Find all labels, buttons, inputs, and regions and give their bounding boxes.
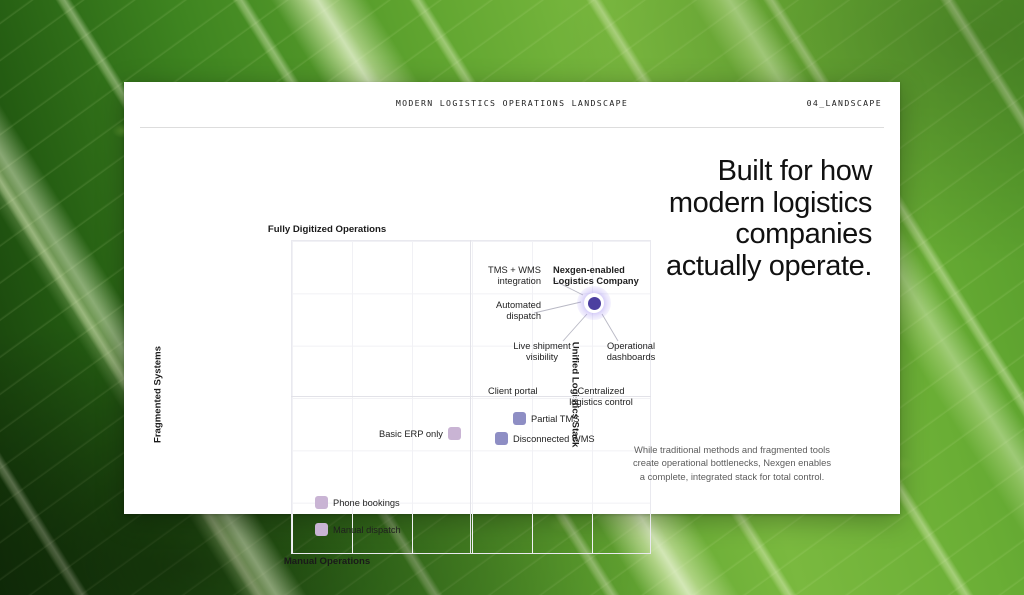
slide-card: MODERN LOGISTICS OPERATIONS LANDSCAPE 04… xyxy=(124,82,900,514)
axis-caption-top: Fully Digitized Operations xyxy=(268,224,386,235)
capability-label-tms-wms: TMS + WMS integration xyxy=(431,265,541,287)
body-paragraph: While traditional methods and fragmented… xyxy=(592,443,872,484)
data-point-label: Phone bookings xyxy=(333,498,400,508)
copy-column: Built for how modern logistics companies… xyxy=(592,130,872,514)
headline: Built for how modern logistics companies… xyxy=(592,156,872,282)
slide-header: MODERN LOGISTICS OPERATIONS LANDSCAPE 04… xyxy=(140,82,884,128)
swatch-icon xyxy=(513,412,526,425)
capability-label-live-shipment-visibility: Live shipment visibility xyxy=(497,341,587,363)
swatch-icon xyxy=(315,523,328,536)
slide-header-code: 04_LANDSCAPE xyxy=(807,98,882,108)
swatch-icon xyxy=(495,432,508,445)
data-point-partial-tms[interactable]: Partial TMS xyxy=(513,412,579,425)
data-point-label: Partial TMS xyxy=(531,414,579,424)
data-point-disconnected-wms[interactable]: Disconnected WMS xyxy=(495,432,595,445)
data-point-label: Disconnected WMS xyxy=(513,434,595,444)
swatch-icon xyxy=(448,427,461,440)
capability-label-automated-dispatch: Automated dispatch xyxy=(431,300,541,322)
axis-caption-bottom: Manual Operations xyxy=(284,556,370,567)
data-point-label: Basic ERP only xyxy=(379,429,443,439)
landscape-matrix-chart: Fully Digitized Operations Manual Operat… xyxy=(140,130,540,514)
axis-caption-left: Fragmented Systems xyxy=(153,315,164,475)
swatch-icon xyxy=(315,496,328,509)
data-point-basic-erp-only[interactable]: Basic ERP only xyxy=(379,427,461,440)
data-point-label: Manual dispatch xyxy=(333,525,401,535)
data-point-manual-dispatch[interactable]: Manual dispatch xyxy=(315,523,401,536)
slide-header-title: MODERN LOGISTICS OPERATIONS LANDSCAPE xyxy=(396,98,628,108)
data-point-phone-bookings[interactable]: Phone bookings xyxy=(315,496,400,509)
